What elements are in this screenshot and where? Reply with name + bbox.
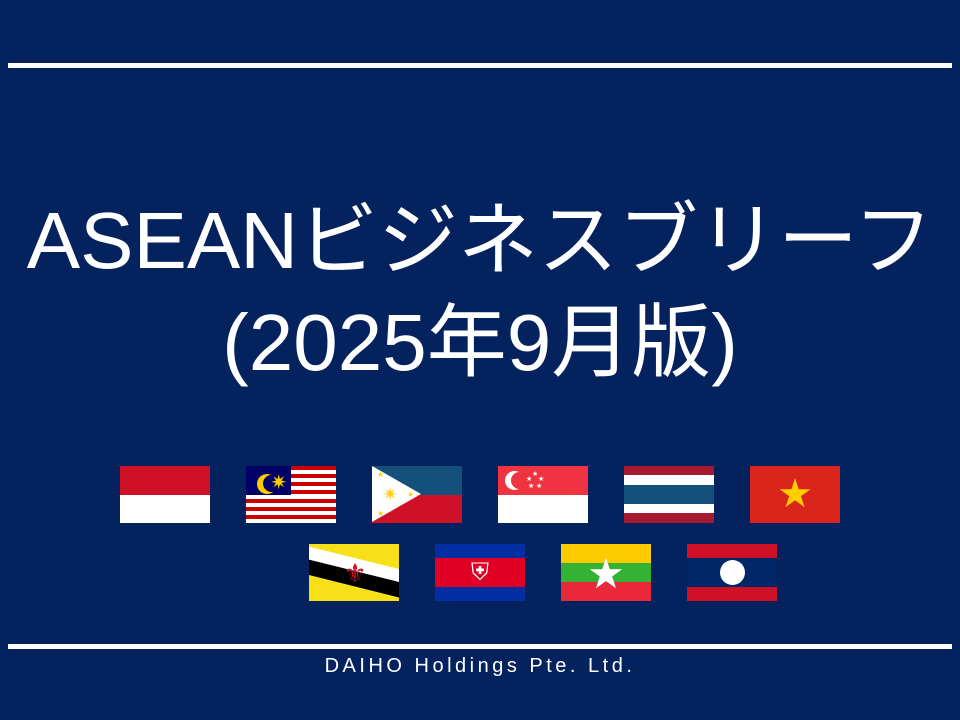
footer-company-name: DAIHO Holdings Pte. Ltd.	[0, 655, 960, 678]
philippines-star-icon: ★	[377, 510, 384, 518]
title-slide: ASEANビジネスブリーフ (2025年9月版) ✷	[0, 0, 960, 720]
malaysia-stripe	[246, 515, 336, 519]
flag-cambodia-icon: ⛨	[435, 544, 525, 601]
thailand-band	[624, 485, 714, 504]
flag-laos-icon	[687, 544, 777, 601]
singapore-white-band	[498, 495, 588, 524]
thailand-band	[624, 466, 714, 475]
laos-band	[687, 544, 777, 558]
title-line-2: (2025年9月版)	[0, 292, 960, 394]
asean-flag-grid: ✷ ✷ ★ ★ ★ ★ ★ ★ ★ ★	[0, 466, 960, 622]
cambodia-band	[435, 544, 525, 558]
cambodia-band	[435, 587, 525, 601]
malaysia-stripe	[246, 499, 336, 503]
thailand-band	[624, 513, 714, 523]
flag-vietnam-icon: ★	[750, 466, 840, 523]
flag-myanmar-icon: ★	[561, 544, 651, 601]
page-title: ASEANビジネスブリーフ (2025年9月版)	[0, 190, 960, 394]
flag-malaysia-icon: ✷	[246, 466, 336, 523]
bottom-divider-rule	[8, 644, 952, 649]
laos-white-disc-icon	[720, 560, 745, 585]
singapore-crescent-icon	[505, 471, 524, 490]
malaysia-stripe	[246, 507, 336, 511]
cambodia-angkor-wat-icon: ⛨	[435, 559, 525, 587]
brunei-crest-icon: ⚜	[343, 556, 367, 590]
flag-thailand-icon	[624, 466, 714, 523]
indonesia-white-band	[120, 495, 210, 524]
singapore-stars-icon: ★ ★ ★ ★ ★	[525, 471, 547, 491]
flag-singapore-icon: ★ ★ ★ ★ ★	[498, 466, 588, 523]
vietnam-star-icon: ★	[750, 466, 840, 523]
myanmar-star-icon: ★	[561, 544, 651, 601]
thailand-band	[624, 475, 714, 484]
flag-row-1: ✷ ✷ ★ ★ ★ ★ ★ ★ ★ ★	[0, 466, 960, 544]
thailand-band	[624, 504, 714, 513]
philippines-sun-icon: ✷	[383, 488, 397, 502]
flag-brunei-icon: ⚜	[309, 544, 399, 601]
laos-band	[687, 587, 777, 601]
philippines-star-icon: ★	[377, 471, 384, 479]
indonesia-red-band	[120, 466, 210, 495]
top-divider-rule	[8, 63, 952, 68]
flag-indonesia-icon	[120, 466, 210, 523]
malaysia-star-icon: ✷	[270, 475, 287, 492]
title-line-1: ASEANビジネスブリーフ	[0, 190, 960, 292]
flag-philippines-icon: ✷ ★ ★ ★	[372, 466, 462, 523]
philippines-star-icon: ★	[407, 491, 414, 499]
flag-row-2: ⚜ ⛨ ★	[0, 544, 960, 622]
